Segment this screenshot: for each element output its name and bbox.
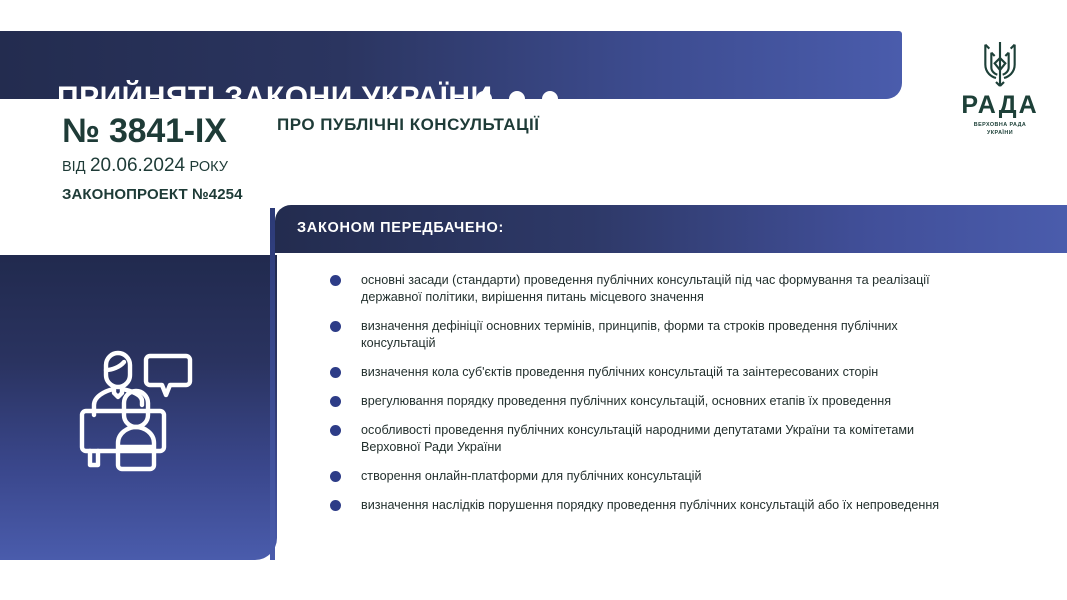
bullet-icon bbox=[330, 275, 341, 286]
law-draft-number: ЗАКОНОПРОЕКТ №4254 bbox=[62, 186, 243, 203]
law-number: № 3841-IX bbox=[62, 113, 227, 150]
provision-item: створення онлайн-платформи для публічних… bbox=[330, 468, 970, 485]
provision-text: визначення кола суб'єктів проведення пуб… bbox=[361, 365, 878, 379]
header-bar: ПРИЙНЯТІ ЗАКОНИ УКРАЇНИ bbox=[0, 31, 902, 99]
rada-subtitle-line2: УКРАЇНИ bbox=[940, 130, 1060, 138]
bullet-icon bbox=[330, 471, 341, 482]
law-date-value: 20.06.2024 bbox=[90, 155, 185, 176]
provision-item: врегулювання порядку проведення публічни… bbox=[330, 393, 970, 410]
illustration-panel bbox=[0, 255, 277, 560]
rada-subtitle: ВЕРХОВНА РАДА УКРАЇНИ bbox=[940, 122, 1060, 138]
provision-text: основні засади (стандарти) проведення пу… bbox=[361, 273, 930, 304]
law-number-value: № 3841-IX bbox=[62, 113, 227, 150]
law-title: ПРО ПУБЛІЧНІ КОНСУЛЬТАЦІЇ bbox=[277, 115, 539, 135]
law-date-prefix: ВІД bbox=[62, 159, 86, 175]
provisions-banner: ЗАКОНОМ ПЕРЕДБАЧЕНО: bbox=[275, 205, 1067, 253]
dot-icon bbox=[542, 91, 558, 107]
rada-subtitle-line1: ВЕРХОВНА РАДА bbox=[940, 122, 1060, 130]
public-consultation-icon bbox=[74, 343, 204, 473]
provision-item: визначення кола суб'єктів проведення пуб… bbox=[330, 364, 970, 381]
provision-text: особливості проведення публічних консуль… bbox=[361, 423, 914, 454]
bullet-icon bbox=[330, 321, 341, 332]
provisions-banner-label: ЗАКОНОМ ПЕРЕДБАЧЕНО: bbox=[297, 220, 504, 236]
page-title: ПРИЙНЯТІ ЗАКОНИ УКРАЇНИ bbox=[57, 81, 493, 115]
law-date-suffix: РОКУ bbox=[190, 159, 228, 175]
provisions-list: основні засади (стандарти) проведення пу… bbox=[330, 272, 970, 514]
bullet-icon bbox=[330, 396, 341, 407]
bullet-icon bbox=[330, 500, 341, 511]
dot-icon bbox=[509, 91, 525, 107]
provision-text: визначення дефініції основних термінів, … bbox=[361, 319, 898, 350]
content-rail bbox=[270, 208, 275, 560]
tryzub-icon bbox=[980, 38, 1020, 90]
provision-item: основні засади (стандарти) проведення пу… bbox=[330, 272, 970, 306]
rada-logo: РАДА ВЕРХОВНА РАДА УКРАЇНИ bbox=[940, 38, 1060, 138]
rada-wordmark: РАДА bbox=[940, 93, 1060, 118]
provision-item: визначення дефініції основних термінів, … bbox=[330, 318, 970, 352]
provision-text: врегулювання порядку проведення публічни… bbox=[361, 394, 891, 408]
header-dots bbox=[476, 91, 558, 107]
bullet-icon bbox=[330, 367, 341, 378]
law-date: ВІД 20.06.2024 РОКУ bbox=[62, 155, 228, 177]
dot-icon bbox=[476, 91, 492, 107]
provision-text: визначення наслідків порушення порядку п… bbox=[361, 498, 939, 512]
provision-text: створення онлайн-платформи для публічних… bbox=[361, 469, 702, 483]
provision-item: особливості проведення публічних консуль… bbox=[330, 422, 970, 456]
infographic-page: ПРИЙНЯТІ ЗАКОНИ УКРАЇНИ РАДА ВЕРХОВНА Р bbox=[0, 0, 1067, 600]
provision-item: визначення наслідків порушення порядку п… bbox=[330, 497, 970, 514]
bullet-icon bbox=[330, 425, 341, 436]
